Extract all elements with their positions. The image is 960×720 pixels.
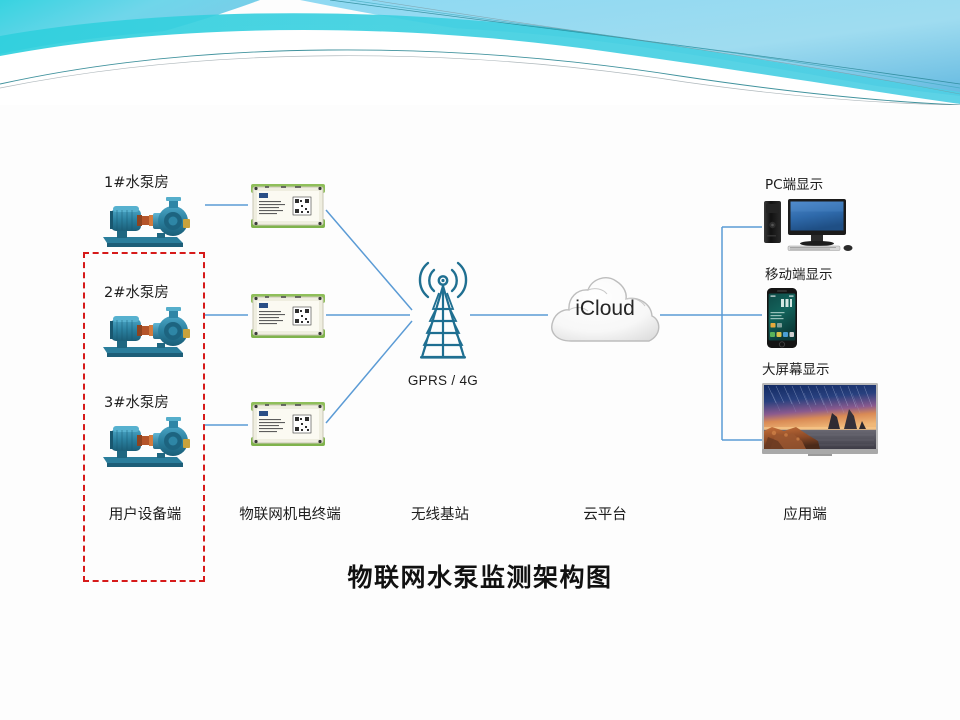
column-label-iot-terminal: 物联网机电终端 bbox=[215, 503, 365, 524]
diagram-canvas: 1#水泵房 bbox=[0, 105, 960, 720]
column-label-user-equipment: 用户设备端 bbox=[80, 503, 210, 524]
iot-terminal-icon bbox=[249, 399, 327, 449]
pump-label-1: 1#水泵房 bbox=[104, 171, 169, 192]
pump-label-3: 3#水泵房 bbox=[104, 391, 169, 412]
desktop-computer-icon bbox=[762, 197, 854, 255]
tower-label: GPRS / 4G bbox=[398, 373, 488, 388]
app-label-bigscreen: 大屏幕显示 bbox=[762, 358, 830, 378]
iot-terminal-icon bbox=[249, 181, 327, 231]
cell-tower-icon bbox=[398, 253, 488, 368]
column-label-base-station: 无线基站 bbox=[380, 503, 500, 524]
large-screen-tv-icon bbox=[762, 383, 878, 457]
column-label-application: 应用端 bbox=[745, 503, 865, 524]
app-label-mobile: 移动端显示 bbox=[765, 263, 833, 283]
app-label-pc: PC端显示 bbox=[765, 173, 823, 193]
page-title: 物联网水泵监测架构图 bbox=[0, 558, 960, 594]
column-label-cloud-platform: 云平台 bbox=[545, 503, 665, 524]
cloud-label: iCloud bbox=[545, 297, 665, 321]
slide-root: 1#水泵房 bbox=[0, 0, 960, 720]
water-pump-icon bbox=[97, 305, 193, 361]
header-wave-decoration bbox=[0, 0, 960, 105]
iot-terminal-icon bbox=[249, 291, 327, 341]
water-pump-icon bbox=[97, 195, 193, 251]
water-pump-icon bbox=[97, 415, 193, 471]
pump-label-2: 2#水泵房 bbox=[104, 281, 169, 302]
smartphone-icon bbox=[766, 287, 798, 349]
